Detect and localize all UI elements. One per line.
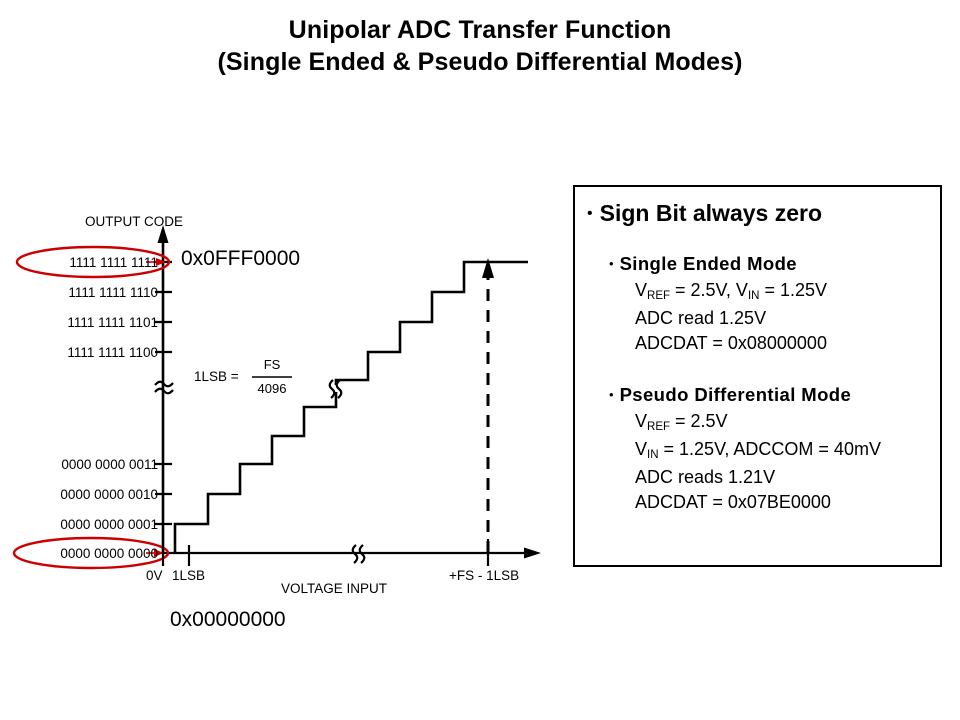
- y-tick-label-1111-1111-1111: 1111 1111 1111: [18, 255, 158, 270]
- y-tick-label-0000-0000-0000: 0000 0000 0000: [18, 546, 158, 561]
- lsb-formula-numerator: FS: [252, 357, 292, 372]
- y-tick-label-1111-1111-1100: 1111 1111 1100: [18, 345, 158, 360]
- detail-adc-read-single: ADC read 1.25V: [635, 306, 939, 331]
- vin-symbol: V: [635, 439, 647, 459]
- vin-symbol: V: [736, 280, 748, 300]
- mode-block-single-ended: • Single Ended Mode VREF = 2.5V, VIN = 1…: [609, 252, 939, 356]
- top-code-hex-label: 0x0FFF0000: [181, 247, 300, 271]
- x-tick-label-1lsb: 1LSB: [172, 568, 205, 583]
- vin-adccom-value: = 1.25V, ADCCOM = 40mV: [659, 439, 881, 459]
- vref-subscript: REF: [647, 421, 670, 433]
- y-tick-label-1111-1111-1101: 1111 1111 1101: [18, 315, 158, 330]
- y-tick-label-1111-1111-1110: 1111 1111 1110: [18, 285, 158, 300]
- detail-adcdat-pseudo: ADCDAT = 0x07BE0000: [635, 490, 939, 515]
- vref-subscript: REF: [647, 290, 670, 302]
- transfer-function-staircase-lower: [175, 392, 336, 553]
- mode-heading-row-single-ended: • Single Ended Mode: [609, 252, 939, 276]
- lsb-formula-denominator: 4096: [252, 381, 292, 396]
- y-axis-title-text: OUTPUT CODE: [85, 214, 183, 229]
- mode-heading-row-pseudo-differential: • Pseudo Differential Mode: [609, 383, 939, 407]
- vin-subscript: IN: [647, 449, 659, 461]
- y-axis-title: OUTPUT CODE: [85, 214, 160, 229]
- detail-adcdat-single: ADCDAT = 0x08000000: [635, 331, 939, 356]
- vin-value: = 1.25V: [759, 280, 827, 300]
- info-box-heading: Sign Bit always zero: [600, 199, 822, 227]
- mode-heading-single-ended: Single Ended Mode: [620, 252, 797, 276]
- y-tick-label-0000-0000-0001: 0000 0000 0001: [18, 517, 158, 532]
- info-box: • Sign Bit always zero • Single Ended Mo…: [573, 185, 942, 567]
- y-tick-label-0000-0000-0010: 0000 0000 0010: [18, 487, 158, 502]
- detail-vref-pseudo: VREF = 2.5V: [635, 409, 939, 437]
- bullet-icon: •: [609, 383, 620, 401]
- vref-value: = 2.5V,: [670, 280, 736, 300]
- bullet-icon: •: [609, 252, 620, 270]
- mode-details-pseudo-differential: VREF = 2.5V VIN = 1.25V, ADCCOM = 40mV A…: [635, 409, 939, 515]
- full-scale-dashed-arrow: [482, 258, 494, 553]
- lsb-formula-label: 1LSB =: [194, 369, 239, 384]
- x-tick-label-0v: 0V: [146, 568, 163, 583]
- detail-vref-vin-single: VREF = 2.5V, VIN = 1.25V: [635, 278, 939, 306]
- mode-details-single-ended: VREF = 2.5V, VIN = 1.25V ADC read 1.25V …: [635, 278, 939, 356]
- mode-block-pseudo-differential: • Pseudo Differential Mode VREF = 2.5V V…: [609, 383, 939, 515]
- info-box-heading-row: • Sign Bit always zero: [587, 199, 932, 227]
- mode-heading-pseudo-differential: Pseudo Differential Mode: [620, 383, 852, 407]
- bullet-icon: •: [587, 199, 600, 222]
- detail-vin-adccom-pseudo: VIN = 1.25V, ADCCOM = 40mV: [635, 437, 939, 465]
- y-tick-label-0000-0000-0011: 0000 0000 0011: [18, 457, 158, 472]
- vref-symbol: V: [635, 411, 647, 431]
- transfer-function-staircase-upper: [336, 262, 528, 385]
- x-tick-label-fs-minus-1lsb: +FS - 1LSB: [449, 568, 519, 583]
- bottom-code-hex-label: 0x00000000: [170, 608, 286, 632]
- vref-value: = 2.5V: [670, 411, 728, 431]
- slide-canvas: Unipolar ADC Transfer Function (Single E…: [0, 0, 960, 720]
- vref-symbol: V: [635, 280, 647, 300]
- vin-subscript: IN: [748, 290, 760, 302]
- detail-adc-reads-pseudo: ADC reads 1.21V: [635, 465, 939, 490]
- x-axis-title: VOLTAGE INPUT: [281, 581, 387, 596]
